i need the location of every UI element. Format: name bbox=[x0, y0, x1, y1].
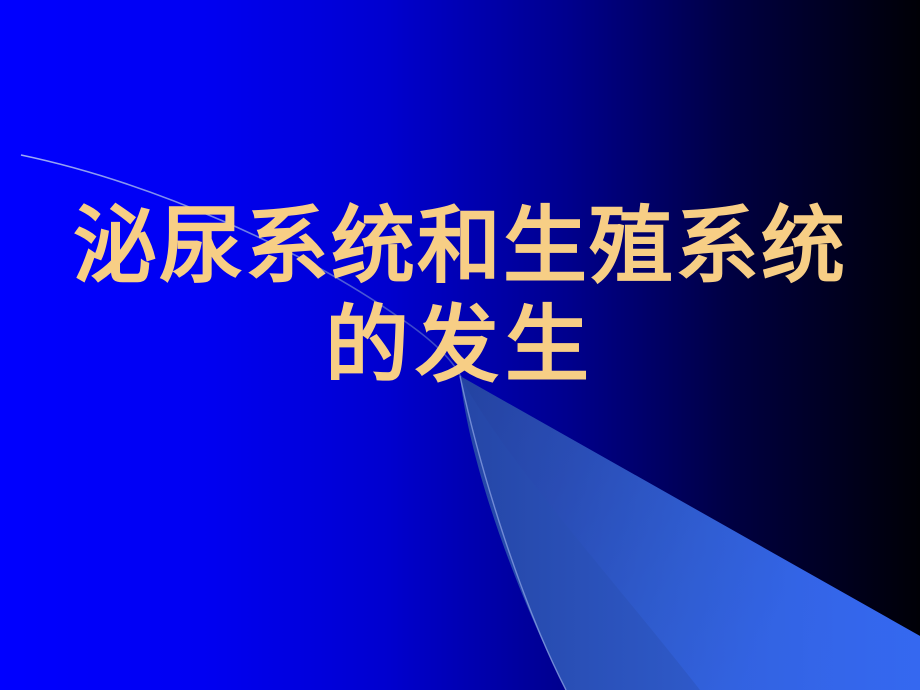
title-slide: 泌尿系统和生殖系统 的发生 bbox=[0, 0, 920, 690]
slide-background bbox=[0, 0, 920, 690]
